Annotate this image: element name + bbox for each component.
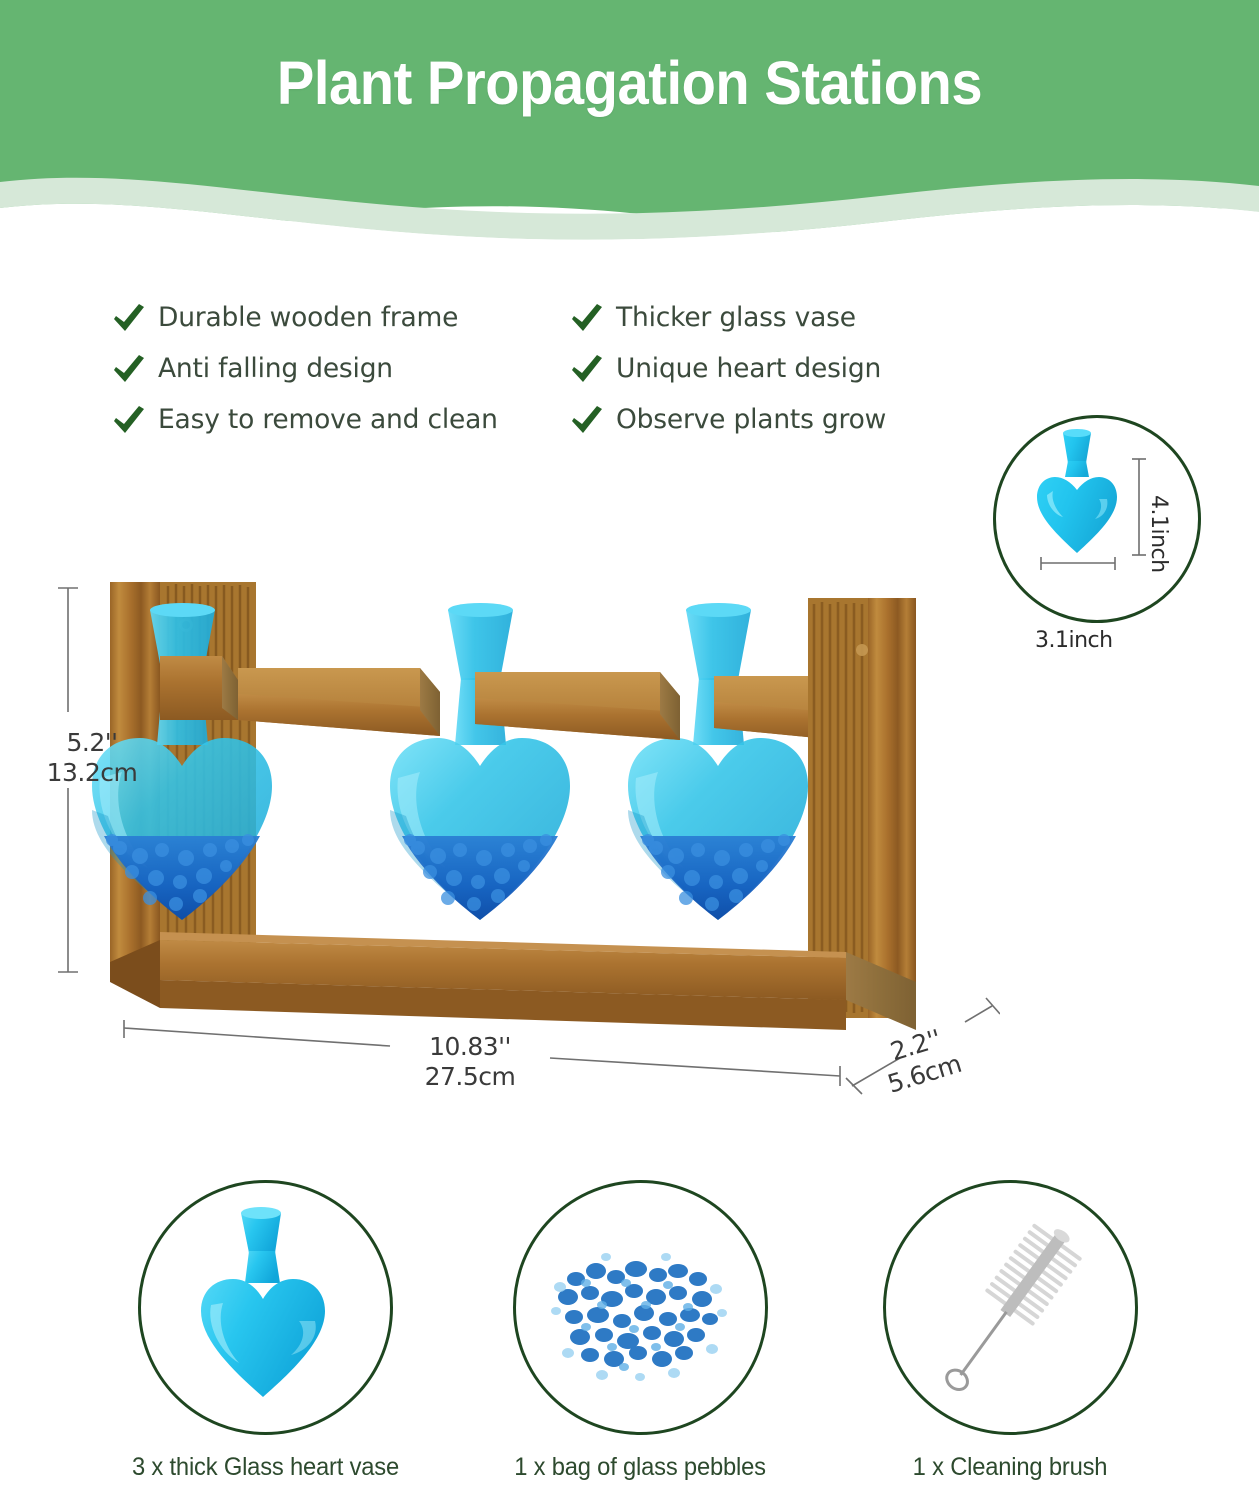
heart-vase-icon [628, 603, 808, 920]
item-caption: 3 x thick Glass heart vase [132, 1453, 398, 1482]
cleaning-brush-icon [886, 1183, 1134, 1431]
width-inch: 10.83'' [390, 1032, 550, 1062]
included-item: 3 x thick Glass heart vase [125, 1180, 405, 1482]
vase-width-label: 3.1inch [1035, 628, 1113, 653]
heart-vase-icon [390, 603, 570, 920]
check-icon [570, 405, 604, 435]
feature-list: Durable wooden frame Thicker glass vase … [112, 292, 952, 445]
header-background [0, 0, 1259, 265]
feature-item: Anti falling design [112, 353, 570, 384]
feature-item: Observe plants grow [570, 404, 952, 435]
item-circle [138, 1180, 393, 1435]
feature-label: Durable wooden frame [158, 302, 458, 333]
heart-vase-icon [1037, 429, 1117, 553]
frame-top-rail [160, 656, 878, 744]
item-circle [883, 1180, 1138, 1435]
feature-item: Thicker glass vase [570, 302, 952, 333]
check-icon [570, 303, 604, 333]
item-circle [513, 1180, 768, 1435]
feature-label: Thicker glass vase [616, 302, 856, 333]
vase-height-label: 4.1inch [1146, 495, 1171, 573]
item-caption: 1 x bag of glass pebbles [507, 1453, 773, 1482]
height-cm: 13.2cm [38, 758, 146, 788]
feature-item: Unique heart design [570, 353, 952, 384]
feature-label: Observe plants grow [616, 404, 886, 435]
height-inch: 5.2'' [38, 728, 146, 758]
check-icon [570, 354, 604, 384]
check-icon [112, 405, 146, 435]
feature-label: Easy to remove and clean [158, 404, 498, 435]
feature-item: Easy to remove and clean [112, 404, 570, 435]
heart-vase-icon [141, 1183, 389, 1431]
feature-label: Unique heart design [616, 353, 881, 384]
feature-item: Durable wooden frame [112, 302, 570, 333]
feature-label: Anti falling design [158, 353, 393, 384]
included-item: 1 x bag of glass pebbles [500, 1180, 780, 1482]
dimension-height-label: 5.2'' 13.2cm [38, 728, 146, 787]
page-header: Plant Propagation Stations [0, 0, 1259, 265]
page-title: Plant Propagation Stations [50, 48, 1208, 118]
check-icon [112, 303, 146, 333]
included-item: 1 x Cleaning brush [870, 1180, 1150, 1482]
item-caption: 1 x Cleaning brush [877, 1453, 1143, 1482]
included-items: 3 x thick Glass heart vase [0, 1180, 1259, 1500]
heart-vase-group [92, 603, 808, 920]
width-cm: 27.5cm [390, 1062, 550, 1092]
frame-base-shelf [110, 932, 916, 1030]
dimension-width-label: 10.83'' 27.5cm [390, 1032, 550, 1091]
glass-pebbles-icon [516, 1183, 764, 1431]
check-icon [112, 354, 146, 384]
